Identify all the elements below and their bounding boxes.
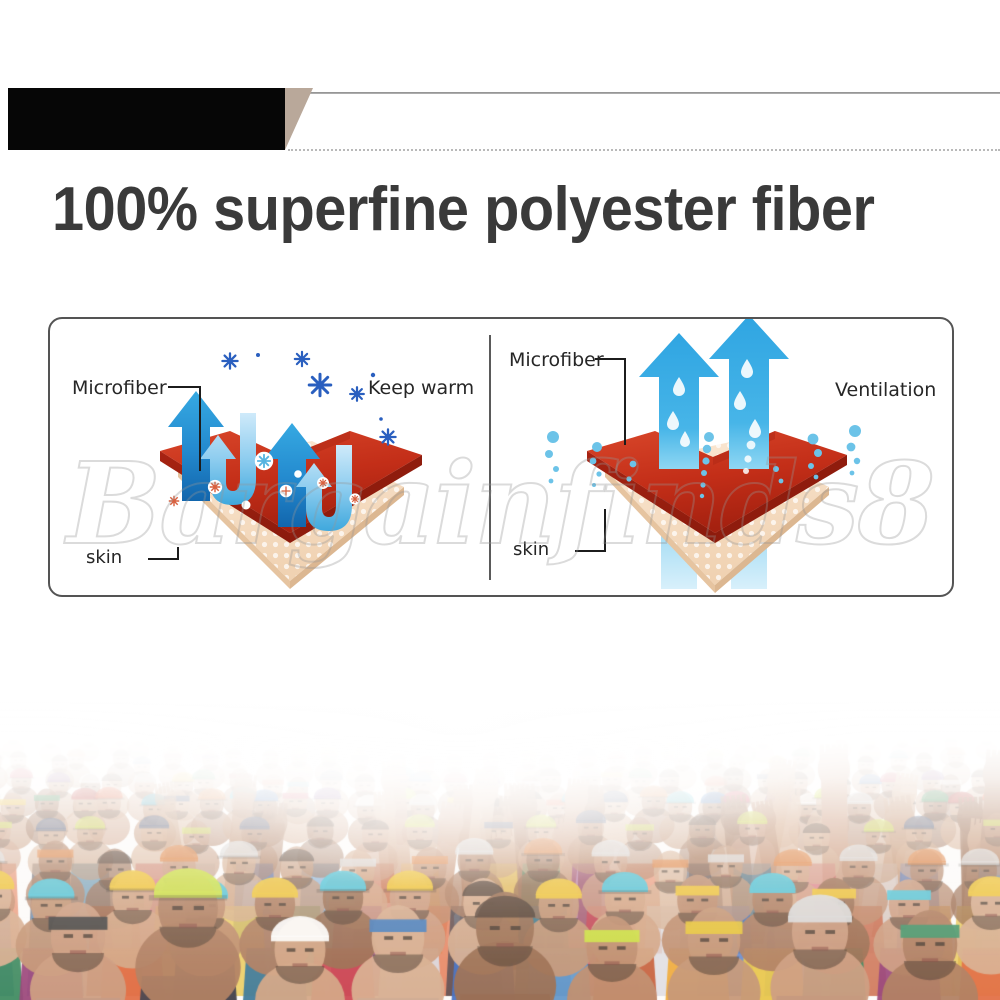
- label-ventilation: Ventilation: [835, 379, 936, 401]
- crowd-photo: [0, 700, 1000, 1000]
- fabric-technology-diagram-panel: Microfiber skin Keep warm: [48, 317, 954, 597]
- header-rule-dotted: [288, 149, 1000, 152]
- label-microfiber-left: Microfiber: [72, 377, 167, 399]
- diagram-divider: [489, 335, 491, 580]
- diagram-keep-warm: Microfiber skin Keep warm: [50, 319, 491, 595]
- label-microfiber-right: Microfiber: [509, 349, 604, 371]
- label-skin-right: skin: [513, 539, 549, 560]
- diagram-ventilation: Microfiber skin Ventilation: [493, 319, 954, 595]
- header-brand-bar: [8, 88, 285, 150]
- label-skin-left: skin: [86, 547, 122, 568]
- page-title: 100% superfine polyester fiber: [52, 176, 889, 246]
- header-rule-solid: [285, 92, 1000, 94]
- label-keep-warm: Keep warm: [368, 377, 474, 399]
- crowd-photo-canvas: [0, 700, 1000, 1000]
